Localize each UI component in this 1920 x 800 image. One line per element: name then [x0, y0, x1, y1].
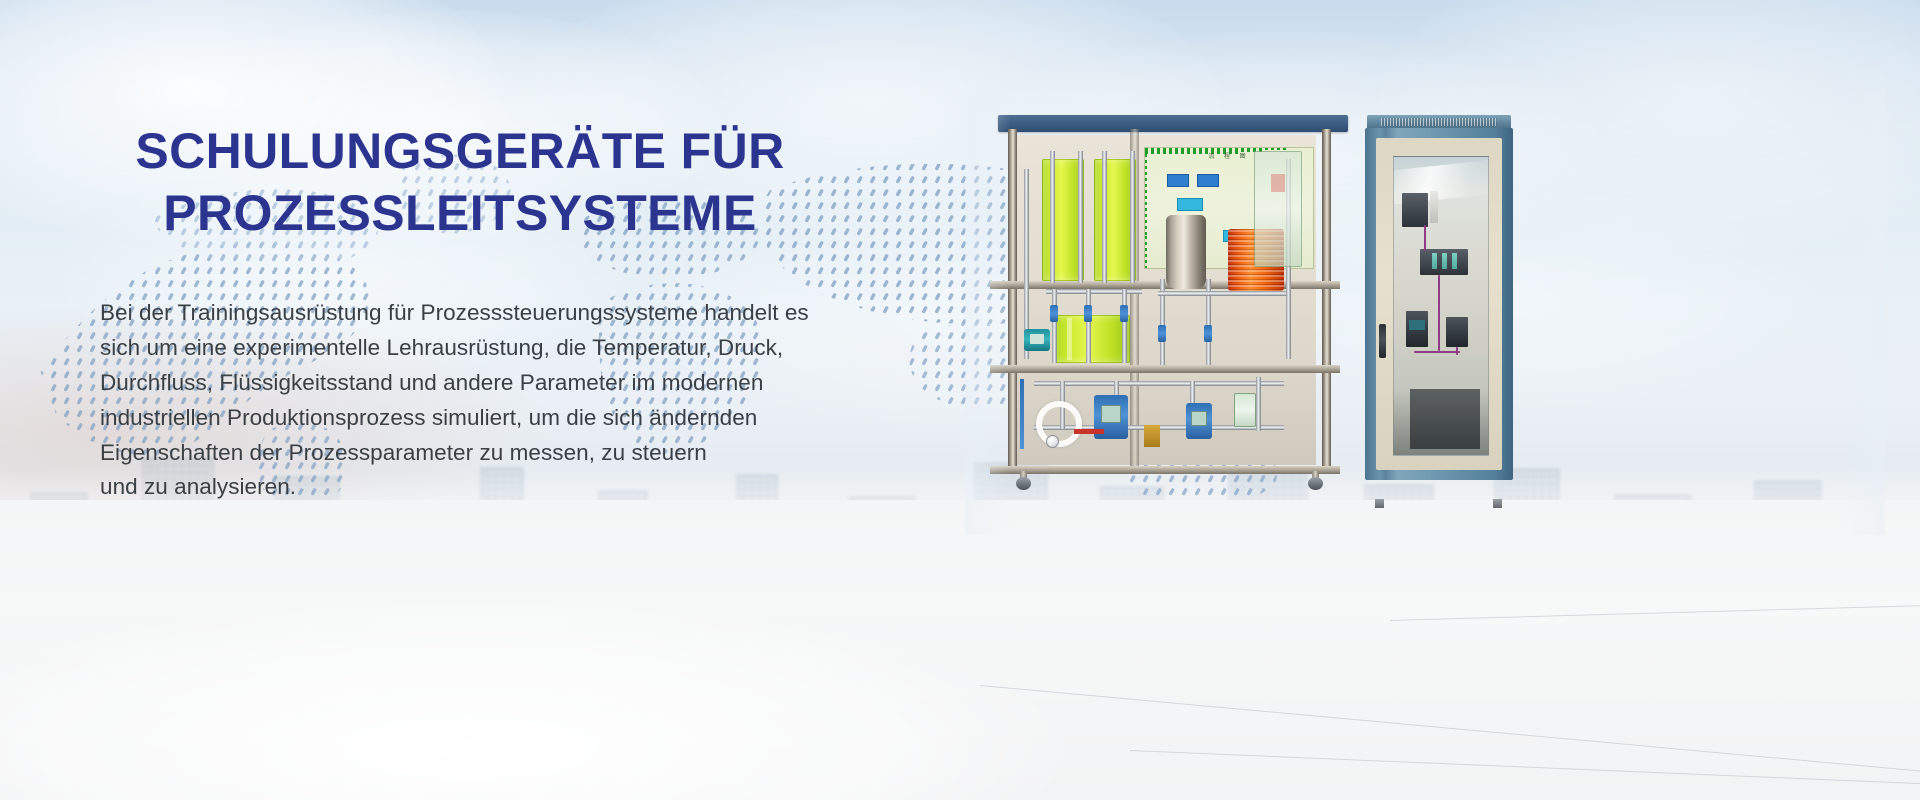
pressure-transmitter: [1024, 329, 1050, 351]
purple-wiring-harness: [1438, 275, 1440, 351]
process-pipe: [1034, 381, 1284, 386]
caster-wheel: [1308, 471, 1323, 490]
frame-post: [1008, 129, 1017, 474]
caster-wheel: [1016, 471, 1031, 490]
headline-line-1: SCHULUNGSGERÄTE FÜR: [135, 123, 784, 179]
process-pipe: [1046, 289, 1142, 294]
frame-post: [1322, 129, 1331, 474]
skid-frame: 流 程 图: [990, 129, 1340, 474]
hero-banner: SCHULUNGSGERÄTE FÜR PROZESSLEITSYSTEME B…: [0, 0, 1920, 800]
page-title: SCHULUNGSGERÄTE FÜR PROZESSLEITSYSTEME: [130, 120, 790, 244]
process-pipe: [1086, 289, 1091, 363]
brass-fitting: [1144, 425, 1160, 447]
red-pipe: [1074, 429, 1104, 434]
cabinet-body: [1365, 128, 1513, 480]
digital-indicator: [1234, 393, 1256, 427]
control-valve: [1120, 305, 1128, 322]
contactor-module: [1446, 317, 1468, 347]
process-pipe: [1158, 291, 1288, 296]
indicator-panel: [1254, 151, 1302, 267]
cabinet-door-handle[interactable]: [1379, 324, 1386, 358]
hero-text-panel: SCHULUNGSGERÄTE FÜR PROZESSLEITSYSTEME B…: [100, 120, 980, 505]
stainless-pressure-vessel: [1166, 215, 1206, 289]
process-pipe: [1130, 151, 1135, 283]
plc-control-cabinet: [1365, 115, 1513, 500]
control-valve-actuator: [1186, 403, 1212, 439]
variable-frequency-drive: [1406, 311, 1428, 347]
cabinet-foot: [1375, 499, 1384, 508]
cabinet-vent: [1381, 118, 1497, 126]
terminal-block: [1430, 191, 1438, 223]
headline-line-2: PROZESSLEITSYSTEME: [130, 182, 790, 244]
control-valve: [1158, 325, 1166, 342]
process-pipe: [1052, 289, 1057, 363]
cabinet-foot: [1493, 499, 1502, 508]
power-supply-module: [1402, 193, 1428, 227]
purple-wiring-harness: [1456, 347, 1458, 355]
cabinet-window: [1393, 156, 1489, 456]
skid-shelf: [990, 365, 1340, 373]
process-control-training-skid: 流 程 图: [990, 115, 1350, 490]
pressure-gauge: [1046, 435, 1059, 448]
purple-wiring-harness: [1424, 225, 1426, 251]
process-pipe: [1050, 151, 1055, 283]
control-valve: [1204, 325, 1212, 342]
white-coiled-hose: [1036, 401, 1082, 447]
equipment-photo: 流 程 图: [975, 95, 1875, 525]
hero-description: Bei der Trainingsausrüstung für Prozesss…: [100, 296, 920, 505]
lower-process-tank: [1052, 315, 1130, 363]
process-pipe: [1078, 151, 1083, 283]
control-valve: [1050, 305, 1058, 322]
cabinet-door: [1376, 138, 1502, 470]
level-scale: [1020, 379, 1024, 449]
skid-base: [990, 466, 1340, 474]
control-valve: [1084, 305, 1092, 322]
process-pipe: [1256, 377, 1261, 431]
plc-io-rack: [1420, 249, 1468, 275]
process-pipe: [1122, 289, 1127, 363]
process-pipe: [1102, 151, 1107, 283]
purple-wiring-harness: [1414, 351, 1460, 353]
cabinet-lower-compartment: [1410, 389, 1480, 449]
ground-plane: [0, 500, 1920, 800]
